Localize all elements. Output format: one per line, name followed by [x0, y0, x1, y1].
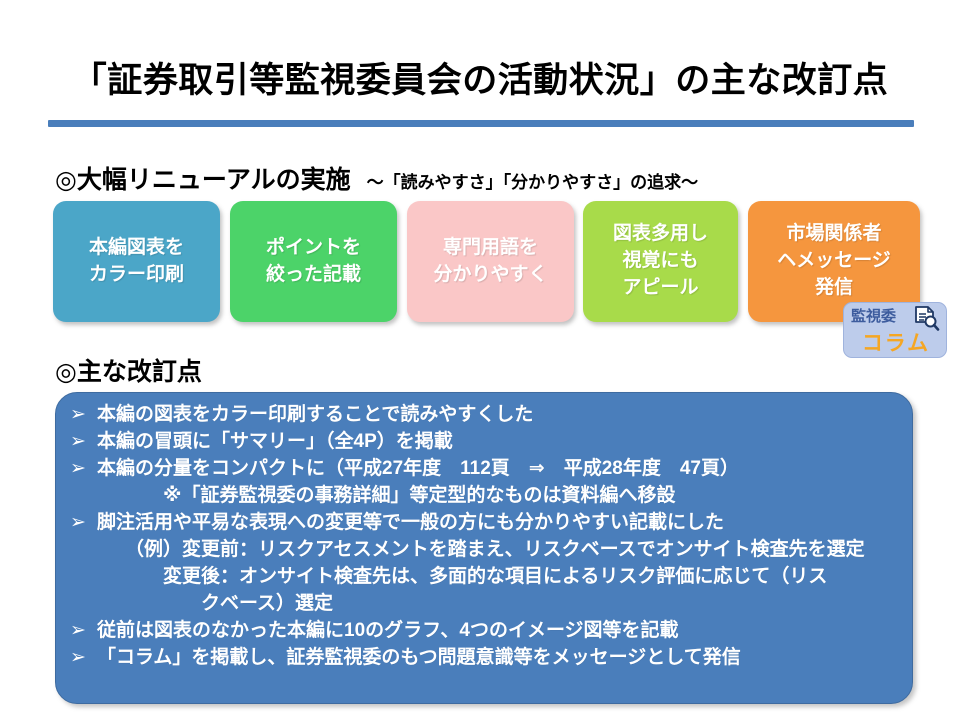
renewal-section-header: ◎大幅リニューアルの実施 ～「読みやすさ」「分かりやすさ」の追求～ [55, 160, 698, 196]
title-divider [48, 120, 914, 127]
revision-item-text: 本編の図表をカラー印刷することで読みやすくした [97, 402, 533, 429]
feature-box-color-print: 本編図表をカラー印刷 [53, 201, 220, 322]
revision-item-text: 脚注活用や平易な表現への変更等で一般の方にも分かりやすい記載にした [97, 510, 724, 537]
feature-box-visual-appeal: 図表多用し視覚にもアピール [583, 201, 738, 322]
renewal-subnote: ～「読みやすさ」「分かりやすさ」の追求～ [367, 168, 699, 193]
feature-box-line: アピール [622, 275, 698, 302]
feature-box-focused-points: ポイントを絞った記載 [230, 201, 397, 322]
bullet-arrow-icon: ➢ [70, 456, 97, 483]
bullet-arrow-icon: ➢ [70, 429, 97, 456]
feature-box-line: 本編図表を [89, 235, 184, 262]
feature-box-line: 専門用語を [443, 235, 538, 262]
bullet-arrow-icon: ➢ [70, 618, 97, 645]
bullet-arrow-icon: ➢ [70, 402, 97, 429]
revision-list-item: ➢本編の分量をコンパクトに（平成27年度 112頁 ⇒ 平成28年度 47頁） [70, 456, 900, 483]
feature-box-line: 発信 [815, 275, 853, 302]
feature-box-line: 絞った記載 [266, 262, 361, 289]
revision-item-subtext: 変更後：オンサイト検査先は、多面的な項目によるリスク評価に応じて（リス [70, 564, 900, 591]
revision-list-item: ➢本編の図表をカラー印刷することで読みやすくした [70, 402, 900, 429]
bullet-arrow-icon: ➢ [70, 510, 97, 537]
feature-box-line: カラー印刷 [89, 262, 184, 289]
feature-box-line: ポイントを [266, 235, 361, 262]
revision-item-subtext: （例）変更前：リスクアセスメントを踏まえ、リスクベースでオンサイト検査先を選定 [70, 537, 900, 564]
feature-box-line: 分かりやすく [433, 262, 547, 289]
revision-list-panel: ➢本編の図表をカラー印刷することで読みやすくした➢本編の冒頭に「サマリー」（全4… [55, 392, 913, 704]
column-badge: 監視委 コラム [843, 302, 947, 358]
revision-list-item: ➢脚注活用や平易な表現への変更等で一般の方にも分かりやすい記載にした [70, 510, 900, 537]
revision-item-text: 本編の分量をコンパクトに（平成27年度 112頁 ⇒ 平成28年度 47頁） [97, 456, 739, 483]
renewal-heading: ◎大幅リニューアルの実施 [55, 160, 351, 196]
feature-box-plain-terms: 専門用語を分かりやすく [407, 201, 574, 322]
page-title: 「証券取引等監視委員会の活動状況」の主な改訂点 [0, 52, 960, 103]
revision-item-text: 「コラム」を掲載し、証券監視委のもつ問題意識等をメッセージとして発信 [97, 645, 741, 672]
revision-list-item: ➢従前は図表のなかった本編に10のグラフ、4つのイメージ図等を記載 [70, 618, 900, 645]
feature-box-line: 市場関係者 [786, 221, 881, 248]
feature-box-line: 視覚にも [622, 248, 698, 275]
revision-list-item: ➢「コラム」を掲載し、証券監視委のもつ問題意識等をメッセージとして発信 [70, 645, 900, 672]
revision-list-item: ➢本編の冒頭に「サマリー」（全4P）を掲載 [70, 429, 900, 456]
revision-item-text: 本編の冒頭に「サマリー」（全4P）を掲載 [97, 429, 453, 456]
revision-item-text: 従前は図表のなかった本編に10のグラフ、4つのイメージ図等を記載 [97, 618, 679, 645]
feature-box-row: 本編図表をカラー印刷ポイントを絞った記載専門用語を分かりやすく図表多用し視覚にも… [53, 201, 925, 322]
bullet-arrow-icon: ➢ [70, 645, 97, 672]
column-badge-label: コラム [844, 327, 947, 357]
column-badge-top-label: 監視委 [851, 305, 896, 326]
feature-box-line: 図表多用し [613, 221, 708, 248]
revision-item-subtext: ※「証券監視委の事務詳細」等定型的なものは資料編へ移設 [70, 483, 900, 510]
revisions-heading: ◎主な改訂点 [55, 352, 202, 388]
feature-box-line: ヘメッセージ [777, 248, 891, 275]
revision-item-subtext: クベース）選定 [70, 591, 900, 618]
